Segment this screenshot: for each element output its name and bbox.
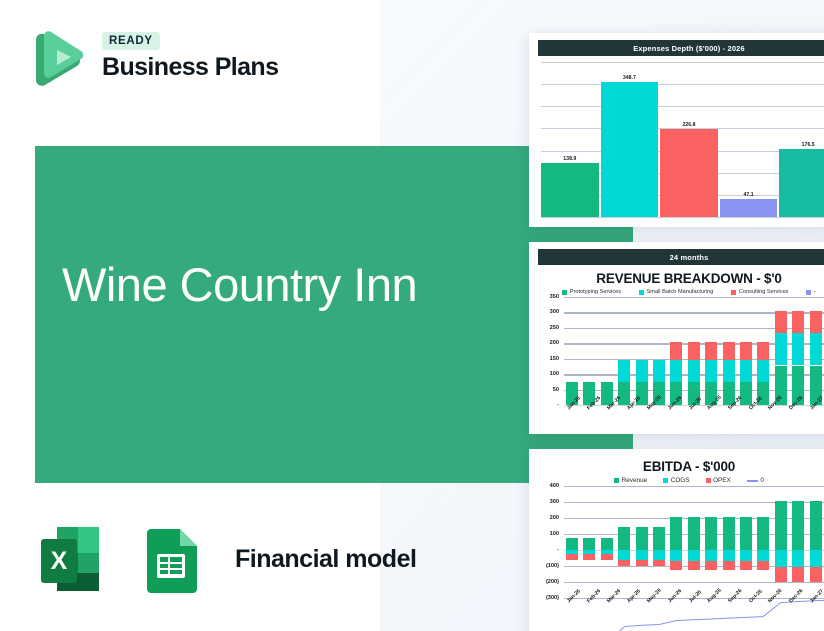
brand-text: READY Business Plans: [102, 32, 278, 82]
bar-segment: [792, 567, 804, 582]
y-axis: 35030025020015010050-: [537, 297, 562, 405]
bar-segment: [740, 550, 752, 561]
expenses-bar: [541, 163, 599, 217]
bar-segment: [670, 360, 682, 382]
bar-column: [738, 297, 754, 405]
bar-column: [790, 297, 806, 405]
bar-column: [738, 486, 754, 598]
svg-text:X: X: [51, 547, 68, 575]
bar-segment: [688, 561, 700, 570]
y-axis-tick: 300: [550, 309, 559, 315]
expenses-bar-group: 138.9348.7226.847.1176.5: [541, 62, 824, 217]
bar-segment: [705, 561, 717, 570]
expenses-bar-column: 348.7: [601, 62, 659, 217]
bar-segment: [670, 517, 682, 550]
y-axis-tick: 400: [550, 483, 559, 489]
y-axis-tick: (300): [546, 595, 559, 601]
y-axis-tick: 50: [553, 387, 559, 393]
bar-segment: [810, 501, 822, 550]
bar-column: [651, 486, 667, 598]
bar-segment: [757, 342, 769, 361]
bar-segment: [618, 527, 630, 550]
gridline: [541, 217, 824, 218]
bar-column: [808, 486, 824, 598]
bar-column: [668, 486, 684, 598]
y-axis-tick: 250: [550, 325, 559, 331]
bar-column: [703, 486, 719, 598]
bar-column: [616, 297, 632, 405]
bar-column: [564, 486, 580, 598]
expenses-plot-area: 138.9348.7226.847.1176.5: [541, 62, 824, 217]
bar-column: [634, 486, 650, 598]
bar-segment: [636, 360, 648, 382]
bar-segment: [723, 360, 735, 382]
bar-segment: [775, 333, 787, 365]
bar-segment: [636, 550, 648, 560]
bar-segment: [757, 561, 769, 570]
bar-segment: [810, 550, 822, 567]
revenue-x-axis-labels: Jan-26Feb-26Mar-26Apr-26May-26Jun-26Jul-…: [564, 407, 824, 413]
bar-segment: [792, 550, 804, 567]
y-axis-tick: 150: [550, 356, 559, 362]
bar-segment: [775, 311, 787, 333]
bar-segment: [792, 333, 804, 365]
legend-item: Prototyping Services: [562, 289, 621, 295]
ready-badge: READY: [102, 32, 160, 50]
bar-segment: [636, 560, 648, 567]
bar-column: [581, 486, 597, 598]
play-triangle-logo-icon: [27, 26, 89, 88]
bar-segment: [688, 342, 700, 361]
legend-swatch: [562, 290, 567, 295]
bar-column: [686, 297, 702, 405]
financial-model-row: X Financial model: [33, 519, 416, 599]
legend-label: Prototyping Services: [570, 289, 621, 295]
legend-item: Small Batch Manufacturing: [639, 289, 713, 295]
legend-label: OPEX: [713, 477, 731, 484]
revenue-chart-title: REVENUE BREAKDOWN - $'0: [529, 265, 824, 289]
expenses-bar-column: 47.1: [720, 62, 778, 217]
legend-label: 0: [760, 477, 764, 484]
bar-segment: [688, 517, 700, 550]
y-axis-tick: 200: [550, 340, 559, 346]
bar-segment: [740, 382, 752, 405]
legend-item: COGS: [663, 477, 689, 484]
legend-item: 0: [747, 477, 764, 484]
bar-column: [581, 297, 597, 405]
bar-column: [808, 297, 824, 405]
bar-segment: [757, 550, 769, 561]
revenue-legend: Prototyping ServicesSmall Batch Manufact…: [529, 289, 824, 297]
legend-label: -: [814, 289, 816, 295]
y-axis-tick: 200: [550, 515, 559, 521]
ebitda-chart-title: EBITDA - $'000: [529, 449, 824, 477]
bar-column: [564, 297, 580, 405]
bar-segment: [705, 342, 717, 361]
bar-segment: [653, 550, 665, 560]
y-axis-tick: (100): [546, 563, 559, 569]
bar-segment: [618, 560, 630, 567]
bar-segment: [757, 517, 769, 550]
ebitda-x-axis-labels: Jan-26Feb-26Mar-26Apr-26May-26Jun-26Jul-…: [564, 600, 824, 606]
bar-segment: [670, 550, 682, 561]
y-axis-tick: 100: [550, 531, 559, 537]
bar-column: [773, 486, 789, 598]
expenses-bar-value: 348.7: [601, 75, 659, 81]
legend-item: Revenue: [614, 477, 647, 484]
legend-label: Small Batch Manufacturing: [647, 289, 714, 295]
expenses-bar-column: 138.9: [541, 62, 599, 217]
chart-card-expenses[interactable]: Expenses Depth ($'000) - 2026 138.9348.7…: [529, 33, 824, 227]
legend-label: Consulting Services: [739, 289, 788, 295]
bar-column: [686, 486, 702, 598]
bar-segment: [670, 561, 682, 570]
bar-segment: [670, 342, 682, 361]
legend-swatch: [806, 290, 811, 295]
bar-column: [773, 297, 789, 405]
bar-segment: [653, 527, 665, 550]
chart-card-revenue[interactable]: 24 months REVENUE BREAKDOWN - $'0 Protot…: [529, 242, 824, 434]
legend-swatch: [706, 478, 711, 483]
google-sheets-icon: [131, 519, 211, 599]
bar-segment: [775, 501, 787, 550]
bar-column: [755, 486, 771, 598]
chart-card-ebitda[interactable]: EBITDA - $'000 RevenueCOGSOPEX0 40030020…: [529, 449, 824, 631]
bar-segment: [653, 360, 665, 382]
financial-model-label: Financial model: [235, 545, 416, 574]
bar-segment: [705, 517, 717, 550]
bar-column: [634, 297, 650, 405]
expenses-bar: [779, 149, 824, 217]
bar-segment: [775, 567, 787, 582]
bar-segment: [757, 360, 769, 382]
legend-swatch: [639, 290, 644, 295]
legend-label: Revenue: [622, 477, 648, 484]
bar-segment: [723, 517, 735, 550]
y-axis-tick: -: [557, 402, 559, 408]
bar-segment: [792, 311, 804, 333]
bar-segment: [618, 360, 630, 382]
bar-column: [668, 297, 684, 405]
bar-segment: [601, 538, 613, 550]
plot-area: [564, 297, 824, 405]
bar-segment: [618, 550, 630, 560]
bar-segment: [740, 342, 752, 361]
expenses-bar: [720, 199, 778, 217]
bar-segment: [775, 550, 787, 567]
bar-column: [721, 297, 737, 405]
y-axis-tick: 300: [550, 499, 559, 505]
bar-segment: [810, 567, 822, 582]
brand-logo[interactable]: READY Business Plans: [27, 26, 278, 88]
legend-swatch: [747, 480, 758, 482]
bar-column: [616, 486, 632, 598]
legend-item: -: [806, 289, 815, 295]
y-axis-tick: 350: [550, 294, 559, 300]
bar-columns: [564, 486, 824, 598]
expenses-bar-value: 226.8: [660, 122, 718, 128]
revenue-plot-area: 35030025020015010050-: [537, 297, 824, 405]
bar-segment: [723, 561, 735, 570]
y-axis-tick: (200): [546, 579, 559, 585]
bar-segment: [688, 550, 700, 561]
legend-swatch: [614, 478, 619, 483]
bar-segment: [566, 554, 578, 560]
ebitda-plot-area: 400300200100-(100)(200)(300): [537, 486, 824, 598]
expenses-chart-title: Expenses Depth ($'000) - 2026: [538, 40, 824, 56]
y-axis-tick: -: [557, 547, 559, 553]
legend-item: Consulting Services: [731, 289, 788, 295]
bar-column: [599, 486, 615, 598]
bar-segment: [601, 554, 613, 560]
bar-segment: [740, 561, 752, 570]
bar-segment: [653, 560, 665, 567]
bar-segment: [583, 538, 595, 550]
bar-segment: [810, 311, 822, 333]
bar-segment: [688, 360, 700, 382]
bar-segment: [810, 333, 822, 365]
bar-segment: [705, 360, 717, 382]
bar-column: [790, 486, 806, 598]
bar-column: [599, 297, 615, 405]
bar-segment: [566, 538, 578, 550]
plot-area: [564, 486, 824, 598]
y-axis: 400300200100-(100)(200)(300): [537, 486, 562, 598]
bar-columns: [564, 297, 824, 405]
expenses-bar-value: 138.9: [541, 156, 599, 162]
expenses-bar: [660, 129, 718, 217]
bar-column: [755, 297, 771, 405]
ebitda-legend: RevenueCOGSOPEX0: [529, 477, 824, 486]
expenses-bar: [601, 82, 659, 217]
bar-segment: [792, 501, 804, 550]
bar-segment: [740, 360, 752, 382]
legend-swatch: [731, 290, 736, 295]
bar-column: [703, 297, 719, 405]
page-title: Wine Country Inn: [62, 254, 482, 317]
legend-label: COGS: [671, 477, 690, 484]
bar-segment: [740, 517, 752, 550]
brand-name: Business Plans: [102, 53, 278, 82]
legend-swatch: [663, 478, 668, 483]
bar-column: [651, 297, 667, 405]
bar-segment: [705, 550, 717, 561]
expenses-bar-value: 47.1: [720, 192, 778, 198]
expenses-bar-column: 176.5: [779, 62, 824, 217]
y-axis-tick: 100: [550, 371, 559, 377]
revenue-period-header: 24 months: [538, 249, 824, 265]
expenses-bar-column: 226.8: [660, 62, 718, 217]
bar-segment: [583, 554, 595, 560]
bar-segment: [723, 550, 735, 561]
expenses-bar-value: 176.5: [779, 142, 824, 148]
excel-icon: X: [33, 519, 113, 599]
bar-column: [721, 486, 737, 598]
legend-item: OPEX: [706, 477, 731, 484]
bar-segment: [636, 527, 648, 550]
bar-segment: [723, 342, 735, 361]
